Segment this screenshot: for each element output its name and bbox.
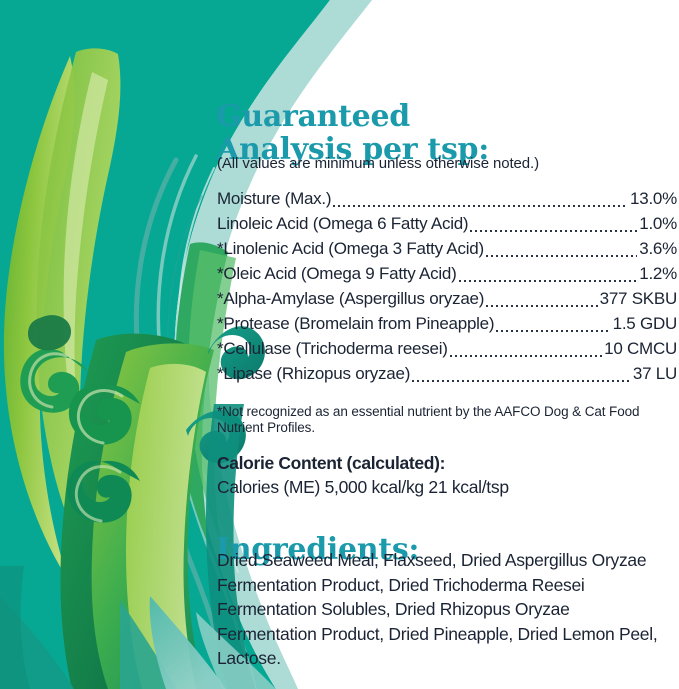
- ingredients-list: Dried Seaweed Meal, Flaxseed, Dried Aspe…: [217, 548, 673, 671]
- dot-leader: [470, 228, 637, 229]
- analysis-value: 1.5 GDU: [613, 311, 677, 336]
- guaranteed-analysis-subnote: (All values are minimum unless otherwise…: [217, 155, 539, 172]
- dot-leader: [496, 328, 610, 329]
- calorie-content-block: Calorie Content (calculated): Calories (…: [217, 452, 677, 499]
- calorie-content-heading: Calorie Content (calculated):: [217, 452, 677, 475]
- analysis-value: 377 SKBU: [600, 286, 677, 311]
- analysis-row: *Linolenic Acid (Omega 3 Fatty Acid) 3.6…: [217, 236, 677, 261]
- dot-leader: [459, 278, 638, 279]
- analysis-label: *Alpha-Amylase (Aspergillus oryzae): [217, 286, 484, 311]
- ga-title-line-1: Guaranteed: [216, 99, 410, 134]
- analysis-value: 10 CMCU: [604, 336, 677, 361]
- analysis-label: *Oleic Acid (Omega 9 Fatty Acid): [217, 261, 457, 286]
- analysis-row: Linoleic Acid (Omega 6 Fatty Acid) 1.0%: [217, 211, 677, 236]
- dot-leader: [333, 203, 628, 204]
- nutrition-label-panel: Guaranteed Analysis per tsp: (All values…: [0, 0, 679, 689]
- label-content-column: Guaranteed Analysis per tsp: (All values…: [216, 0, 679, 689]
- analysis-row: *Alpha-Amylase (Aspergillus oryzae) 377 …: [217, 286, 677, 311]
- dot-leader: [450, 353, 602, 354]
- aafco-footnote: *Not recognized as an essential nutrient…: [217, 404, 675, 436]
- analysis-label: Linoleic Acid (Omega 6 Fatty Acid): [217, 211, 468, 236]
- analysis-label: Moisture (Max.): [217, 186, 331, 211]
- analysis-label: *Lipase (Rhizopus oryzae): [217, 361, 410, 386]
- analysis-row: Moisture (Max.) 13.0%: [217, 186, 677, 211]
- dot-leader: [486, 303, 597, 304]
- guaranteed-analysis-table: Moisture (Max.) 13.0% Linoleic Acid (Ome…: [217, 186, 677, 386]
- analysis-label: *Protease (Bromelain from Pineapple): [217, 311, 494, 336]
- analysis-value: 3.6%: [639, 236, 677, 261]
- analysis-row: *Lipase (Rhizopus oryzae) 37 LU: [217, 361, 677, 386]
- lime-green-blade: [4, 48, 121, 580]
- analysis-value: 1.0%: [639, 211, 677, 236]
- analysis-label: *Cellulase (Trichoderma reesei): [217, 336, 448, 361]
- analysis-value: 37 LU: [633, 361, 677, 386]
- analysis-row: *Oleic Acid (Omega 9 Fatty Acid) 1.2%: [217, 261, 677, 286]
- dot-leader: [486, 253, 637, 254]
- calorie-content-value: Calories (ME) 5,000 kcal/kg 21 kcal/tsp: [217, 475, 677, 499]
- analysis-row: *Protease (Bromelain from Pineapple) 1.5…: [217, 311, 677, 336]
- kelp-nub: [28, 315, 71, 350]
- dot-leader: [412, 378, 631, 379]
- analysis-value: 13.0%: [630, 186, 677, 211]
- analysis-value: 1.2%: [639, 261, 677, 286]
- analysis-row: *Cellulase (Trichoderma reesei) 10 CMCU: [217, 336, 677, 361]
- analysis-label: *Linolenic Acid (Omega 3 Fatty Acid): [217, 236, 484, 261]
